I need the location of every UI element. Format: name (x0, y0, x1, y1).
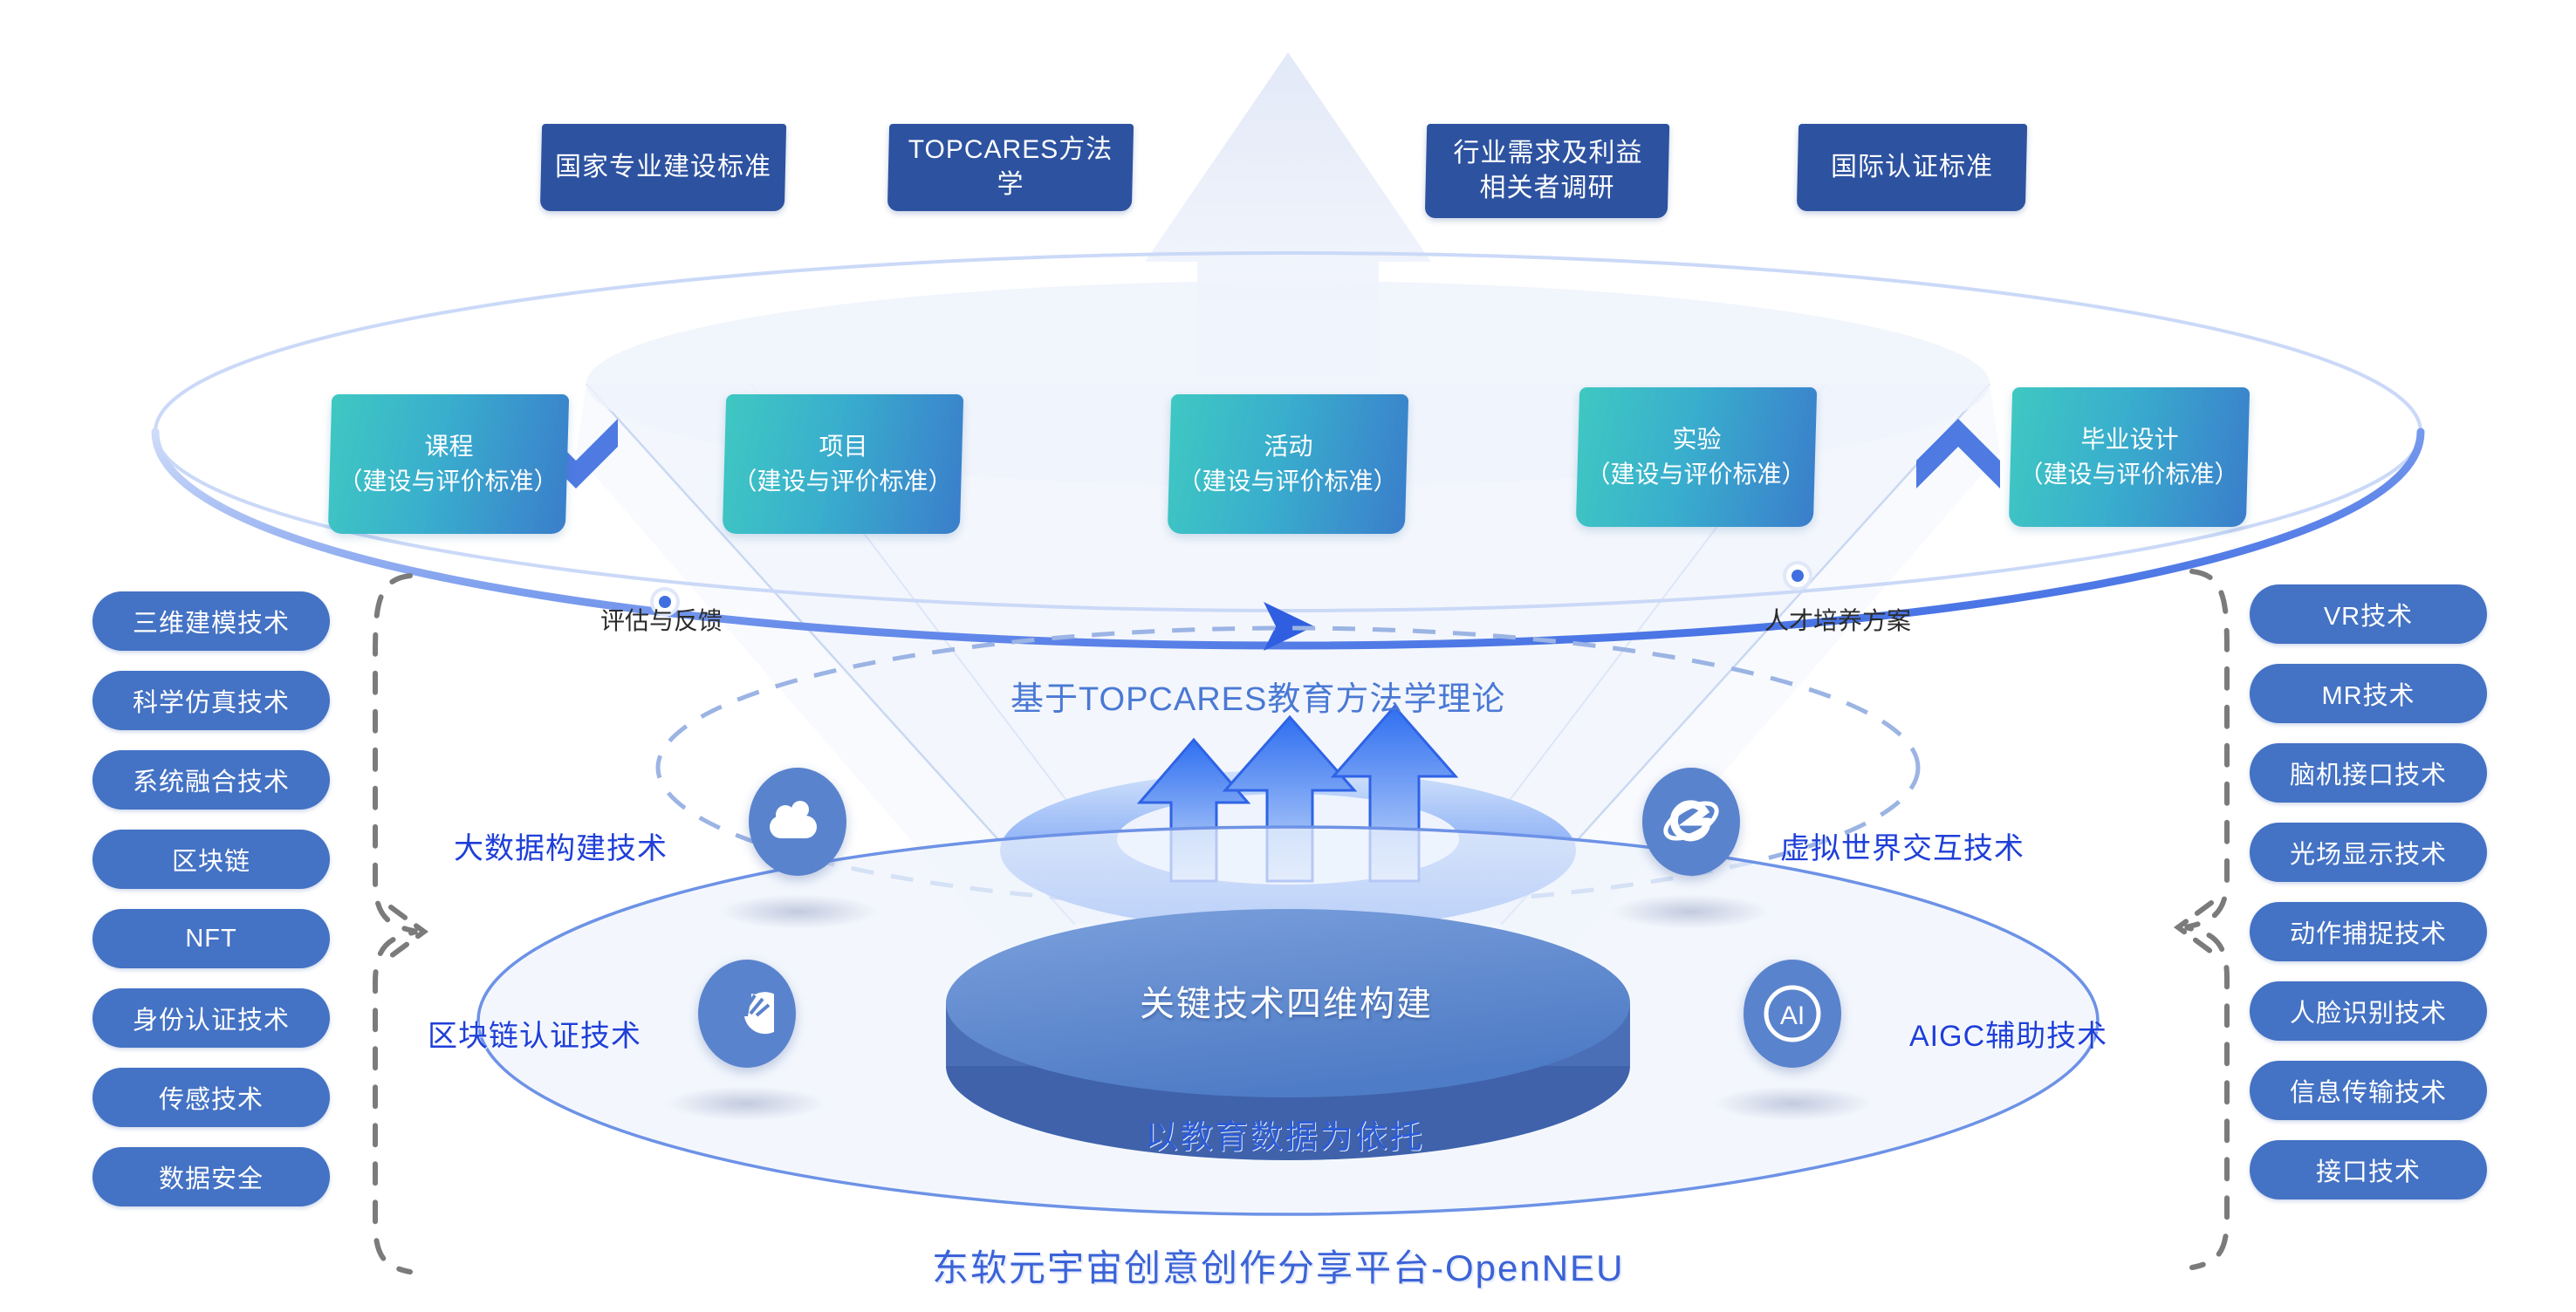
pill-label: 脑机接口技术 (2290, 755, 2447, 791)
left-pill-scientific-sim[interactable]: 科学仿真技术 (92, 671, 330, 730)
left-pill-data-security[interactable]: 数据安全 (92, 1147, 330, 1206)
tech-label-big-data: 大数据构建技术 (454, 824, 668, 867)
card-subtitle: （建设与评价标准） (338, 464, 558, 499)
source-box-industry-survey[interactable]: 行业需求及利益 相关者调研 (1425, 124, 1669, 218)
card-subtitle: （建设与评价标准） (1177, 464, 1397, 499)
card-title: 实验 (1673, 422, 1722, 457)
tech-label-aigc: AIGC辅助技术 (1909, 1012, 2107, 1055)
pill-label: 信息传输技术 (2290, 1072, 2447, 1109)
core-disc-label: 关键技术四维构建 (1140, 975, 1433, 1026)
browser-e-icon (1661, 794, 1722, 850)
right-pill-motion-capture[interactable]: 动作捕捉技术 (2250, 902, 2487, 961)
card-title: 毕业设计 (2081, 422, 2179, 457)
pill-label: 身份认证技术 (133, 1000, 290, 1036)
source-box-label: TOPCARES方法学 (897, 133, 1124, 202)
source-box-national-standard[interactable]: 国家专业建设标准 (540, 124, 786, 211)
left-pill-blockchain[interactable]: 区块链 (92, 830, 330, 889)
source-box-label-line1: 行业需求及利益 (1453, 136, 1642, 171)
pill-label: 三维建模技术 (133, 603, 290, 639)
source-box-label: 国家专业建设标准 (555, 150, 771, 185)
left-pill-nft[interactable]: NFT (92, 909, 330, 968)
pill-label: 人脸识别技术 (2290, 993, 2447, 1029)
right-pill-mr[interactable]: MR技术 (2250, 664, 2487, 723)
loop-label-talent-training-plan: 人才培养方案 (1764, 602, 1911, 637)
right-pill-light-field[interactable]: 光场显示技术 (2250, 823, 2487, 882)
source-box-label-line2: 相关者调研 (1479, 171, 1614, 206)
pill-label: 动作捕捉技术 (2290, 913, 2447, 950)
bubble-aigc[interactable]: AI (1744, 960, 1841, 1068)
right-pill-vr[interactable]: VR技术 (2250, 584, 2487, 644)
left-pill-system-fusion[interactable]: 系统融合技术 (92, 750, 330, 810)
right-pill-info-transfer[interactable]: 信息传输技术 (2250, 1061, 2487, 1120)
ai-icon: AI (1761, 982, 1824, 1045)
source-box-international-accreditation[interactable]: 国际认证标准 (1797, 124, 2027, 211)
card-title: 课程 (425, 429, 474, 464)
standard-card-course[interactable]: 课程 （建设与评价标准） (328, 394, 569, 534)
pill-label: NFT (185, 925, 236, 953)
left-group-brace (375, 576, 417, 1272)
theory-label: 基于TOPCARES教育方法学理论 (1011, 672, 1505, 720)
pill-label: 传感技术 (159, 1079, 264, 1116)
right-group-brace (2185, 571, 2227, 1268)
card-subtitle: （建设与评价标准） (2018, 457, 2238, 492)
diagram-canvas: 国家专业建设标准 TOPCARES方法学 行业需求及利益 相关者调研 国际认证标… (0, 0, 2576, 1312)
tech-label-blockchain-auth: 区块链认证技术 (428, 1012, 641, 1055)
pill-label: 接口技术 (2316, 1151, 2421, 1188)
left-pill-sensing[interactable]: 传感技术 (92, 1068, 330, 1127)
card-title: 项目 (819, 429, 868, 464)
source-box-topcares[interactable]: TOPCARES方法学 (887, 124, 1134, 211)
svg-text:AI: AI (1780, 1001, 1805, 1030)
card-subtitle: （建设与评价标准） (732, 464, 952, 499)
bubble-big-data[interactable] (749, 768, 846, 876)
standard-card-experiment[interactable]: 实验 （建设与评价标准） (1576, 387, 1817, 527)
pill-label: 数据安全 (159, 1158, 264, 1195)
standard-card-project[interactable]: 项目 （建设与评价标准） (723, 394, 963, 534)
cloud-icon (769, 800, 826, 844)
right-pill-bci[interactable]: 脑机接口技术 (2250, 743, 2487, 803)
card-subtitle: （建设与评价标准） (1586, 457, 1805, 492)
bubble-virtual-world[interactable] (1642, 768, 1740, 876)
loop-label-evaluation-feedback: 评估与反馈 (600, 602, 723, 637)
standard-card-graduation-design[interactable]: 毕业设计 （建设与评价标准） (2009, 387, 2250, 527)
bubble-blockchain-auth[interactable] (698, 960, 796, 1068)
pill-label: 科学仿真技术 (133, 682, 290, 719)
left-pill-identity-auth[interactable]: 身份认证技术 (92, 988, 330, 1048)
pill-label: 系统融合技术 (133, 762, 290, 798)
pill-label: MR技术 (2321, 675, 2415, 712)
pill-label: 光场显示技术 (2290, 834, 2447, 871)
left-pill-3d-modeling[interactable]: 三维建模技术 (92, 591, 330, 651)
pie-chart-icon (720, 987, 774, 1041)
right-pill-face-recognition[interactable]: 人脸识别技术 (2250, 981, 2487, 1041)
source-box-label: 国际认证标准 (1831, 150, 1993, 185)
pill-label: 区块链 (172, 841, 250, 878)
card-title: 活动 (1264, 429, 1313, 464)
right-pill-interface[interactable]: 接口技术 (2250, 1140, 2487, 1199)
tech-label-virtual-world: 虚拟世界交互技术 (1780, 824, 2024, 867)
foundation-label: 以教育数据为依托 (1145, 1110, 1424, 1158)
platform-title: 东软元宇宙创意创作分享平台-OpenNEU (932, 1239, 1624, 1292)
standard-card-activity[interactable]: 活动 （建设与评价标准） (1168, 394, 1408, 534)
pill-label: VR技术 (2324, 596, 2413, 632)
